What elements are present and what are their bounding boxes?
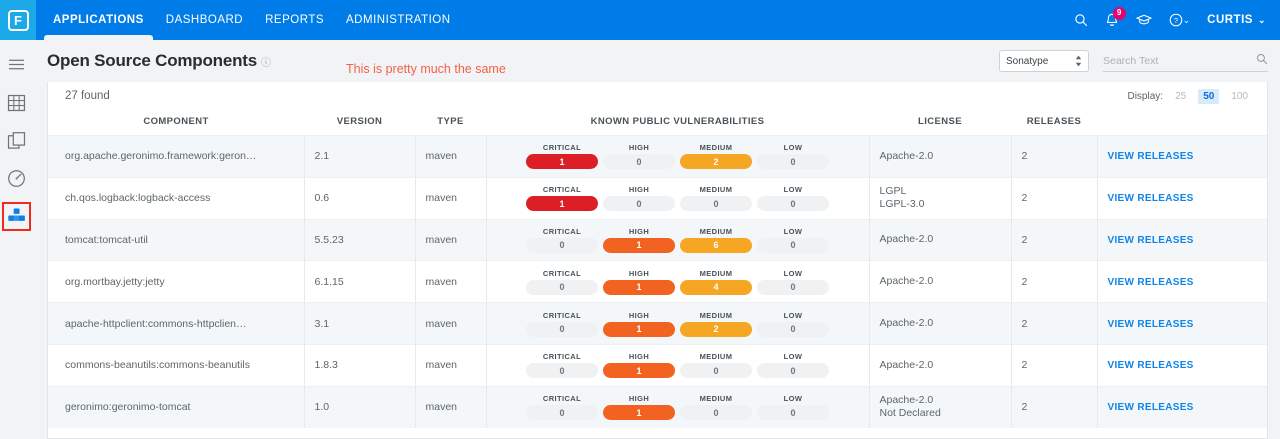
vuln-count-high: 1 bbox=[603, 363, 675, 378]
annotation-text: This is pretty much the same bbox=[346, 62, 506, 76]
cell-releases: 2 bbox=[1011, 136, 1097, 178]
cell-version: 1.0 bbox=[304, 386, 415, 428]
vulnerability-summary: CRITICAL0HIGH1MEDIUM4LOW0 bbox=[487, 269, 869, 295]
filter-select[interactable]: Sonatype bbox=[999, 50, 1089, 72]
vuln-count-medium: 4 bbox=[680, 280, 752, 295]
vuln-cell-low: LOW0 bbox=[757, 185, 829, 211]
top-bar-actions: 9 ? ⌄ CURTIS ⌄ bbox=[1074, 0, 1280, 40]
user-menu[interactable]: CURTIS ⌄ bbox=[1207, 14, 1266, 26]
vuln-cell-high: HIGH0 bbox=[603, 185, 675, 211]
cell-type: maven bbox=[415, 386, 486, 428]
header-controls: Sonatype bbox=[999, 50, 1268, 72]
vuln-cell-low: LOW0 bbox=[757, 269, 829, 295]
vuln-cell-high: HIGH1 bbox=[603, 311, 675, 337]
vuln-count-critical: 1 bbox=[526, 154, 598, 169]
vuln-cell-high: HIGH1 bbox=[603, 352, 675, 378]
vuln-cell-critical: CRITICAL1 bbox=[526, 185, 598, 211]
vuln-label-high: HIGH bbox=[629, 269, 649, 278]
cell-releases: 2 bbox=[1011, 386, 1097, 428]
cell-version: 2.1 bbox=[304, 136, 415, 178]
cell-version: 5.5.23 bbox=[304, 219, 415, 261]
vuln-count-high: 1 bbox=[603, 322, 675, 337]
vuln-label-critical: CRITICAL bbox=[543, 311, 581, 320]
cell-license: Apache-2.0 bbox=[869, 344, 1011, 386]
vuln-label-medium: MEDIUM bbox=[700, 143, 733, 152]
left-icon-rail bbox=[0, 40, 33, 439]
cell-license: LGPLLGPL-3.0 bbox=[869, 177, 1011, 219]
cell-type: maven bbox=[415, 261, 486, 303]
license-line: Apache-2.0 bbox=[880, 359, 1011, 372]
cell-component: apache-httpclient:commons-httpclien… bbox=[48, 303, 304, 345]
license-line: Not Declared bbox=[880, 407, 1011, 420]
cell-vulnerabilities: CRITICAL0HIGH1MEDIUM0LOW0 bbox=[486, 344, 869, 386]
vuln-cell-high: HIGH1 bbox=[603, 269, 675, 295]
vuln-label-medium: MEDIUM bbox=[700, 394, 733, 403]
col-type: TYPE bbox=[415, 112, 486, 136]
select-spinner-icon bbox=[1075, 55, 1082, 67]
vuln-count-critical: 0 bbox=[526, 363, 598, 378]
vuln-cell-critical: CRITICAL0 bbox=[526, 227, 598, 253]
vuln-cell-medium: MEDIUM2 bbox=[680, 311, 752, 337]
vuln-label-critical: CRITICAL bbox=[543, 227, 581, 236]
page-size-25[interactable]: 25 bbox=[1170, 89, 1191, 104]
vuln-cell-high: HIGH0 bbox=[603, 143, 675, 169]
cell-releases: 2 bbox=[1011, 303, 1097, 345]
vuln-label-low: LOW bbox=[784, 227, 803, 236]
cell-component: commons-beanutils:commons-beanutils bbox=[48, 344, 304, 386]
vuln-cell-low: LOW0 bbox=[757, 311, 829, 337]
table-row[interactable]: ch.qos.logback:logback-access0.6mavenCRI… bbox=[48, 177, 1268, 219]
vuln-count-critical: 0 bbox=[526, 238, 598, 253]
cell-license: Apache-2.0 bbox=[869, 136, 1011, 178]
vuln-count-high: 1 bbox=[603, 280, 675, 295]
vulnerability-summary: CRITICAL0HIGH1MEDIUM0LOW0 bbox=[487, 352, 869, 378]
vuln-count-high: 0 bbox=[603, 154, 675, 169]
gauge-icon[interactable] bbox=[4, 166, 29, 191]
filter-select-value: Sonatype bbox=[1006, 56, 1075, 67]
nav-item-administration[interactable]: ADMINISTRATION bbox=[346, 0, 451, 40]
cell-version: 6.1.15 bbox=[304, 261, 415, 303]
vuln-label-high: HIGH bbox=[629, 394, 649, 403]
vuln-cell-critical: CRITICAL0 bbox=[526, 269, 598, 295]
vuln-cell-medium: MEDIUM0 bbox=[680, 185, 752, 211]
vuln-cell-medium: MEDIUM2 bbox=[680, 143, 752, 169]
cell-vulnerabilities: CRITICAL1HIGH0MEDIUM0LOW0 bbox=[486, 177, 869, 219]
license-line: Apache-2.0 bbox=[880, 150, 1011, 163]
table-row[interactable]: org.apache.geronimo.framework:geron…2.1m… bbox=[48, 136, 1268, 178]
table-row[interactable]: apache-httpclient:commons-httpclien…3.1m… bbox=[48, 303, 1268, 345]
cell-license: Apache-2.0 bbox=[869, 303, 1011, 345]
components-card: 27 found Display: 25 50 100 COMPONENT VE… bbox=[47, 82, 1268, 439]
vuln-label-high: HIGH bbox=[629, 311, 649, 320]
vulnerability-summary: CRITICAL0HIGH1MEDIUM2LOW0 bbox=[487, 311, 869, 337]
cell-releases: 2 bbox=[1011, 344, 1097, 386]
nav-label-dashboard: DASHBOARD bbox=[166, 14, 243, 26]
main-content: Open Source Components ⓘ This is pretty … bbox=[33, 40, 1280, 439]
notification-count-badge: 9 bbox=[1113, 7, 1126, 20]
top-navigation-bar: F APPLICATIONS DASHBOARD REPORTS ADMINIS… bbox=[0, 0, 1280, 40]
vuln-label-low: LOW bbox=[784, 185, 803, 194]
vuln-count-critical: 0 bbox=[526, 280, 598, 295]
help-chevron-down-icon: ⌄ bbox=[1183, 15, 1191, 26]
vuln-cell-low: LOW0 bbox=[757, 227, 829, 253]
cell-license: Apache-2.0 bbox=[869, 219, 1011, 261]
view-releases-link[interactable]: VIEW RELEASES bbox=[1108, 235, 1194, 246]
cell-vulnerabilities: CRITICAL0HIGH1MEDIUM4LOW0 bbox=[486, 261, 869, 303]
cell-actions: VIEW RELEASES bbox=[1097, 303, 1268, 345]
page-size-100[interactable]: 100 bbox=[1226, 89, 1253, 104]
user-name-label: CURTIS bbox=[1207, 14, 1253, 26]
col-releases: RELEASES bbox=[1011, 112, 1097, 136]
cell-license: Apache-2.0Not Declared bbox=[869, 386, 1011, 428]
page-title: Open Source Components bbox=[47, 51, 257, 71]
license-line: Apache-2.0 bbox=[880, 233, 1011, 246]
cell-license: Apache-2.0 bbox=[869, 261, 1011, 303]
vuln-count-medium: 0 bbox=[680, 363, 752, 378]
vuln-count-medium: 6 bbox=[680, 238, 752, 253]
help-menu[interactable]: ? ⌄ bbox=[1169, 13, 1191, 27]
cell-component: org.apache.geronimo.framework:geron… bbox=[48, 136, 304, 178]
cell-actions: VIEW RELEASES bbox=[1097, 386, 1268, 428]
graduation-cap-icon[interactable] bbox=[1136, 14, 1152, 26]
vuln-label-critical: CRITICAL bbox=[543, 269, 581, 278]
vuln-cell-high: HIGH1 bbox=[603, 227, 675, 253]
vuln-label-medium: MEDIUM bbox=[700, 311, 733, 320]
vuln-cell-low: LOW0 bbox=[757, 352, 829, 378]
view-releases-link[interactable]: VIEW RELEASES bbox=[1108, 151, 1194, 162]
table-header: COMPONENT VERSION TYPE KNOWN PUBLIC VULN… bbox=[48, 112, 1268, 136]
cell-actions: VIEW RELEASES bbox=[1097, 219, 1268, 261]
vuln-count-high: 1 bbox=[603, 405, 675, 420]
col-actions bbox=[1097, 112, 1268, 136]
app-root: F APPLICATIONS DASHBOARD REPORTS ADMINIS… bbox=[0, 0, 1280, 439]
search-icon[interactable] bbox=[1074, 13, 1088, 27]
page-header: Open Source Components ⓘ This is pretty … bbox=[33, 40, 1280, 82]
nav-label-applications: APPLICATIONS bbox=[53, 14, 144, 26]
table-body: org.apache.geronimo.framework:geron…2.1m… bbox=[48, 136, 1268, 429]
nav-item-dashboard[interactable]: DASHBOARD bbox=[166, 0, 243, 40]
vuln-label-critical: CRITICAL bbox=[543, 185, 581, 194]
cell-component: org.mortbay.jetty:jetty bbox=[48, 261, 304, 303]
vuln-label-low: LOW bbox=[784, 311, 803, 320]
vulnerability-summary: CRITICAL1HIGH0MEDIUM2LOW0 bbox=[487, 143, 869, 169]
page-size-50[interactable]: 50 bbox=[1198, 89, 1219, 104]
vuln-count-high: 1 bbox=[603, 238, 675, 253]
vuln-count-low: 0 bbox=[757, 280, 829, 295]
license-line: LGPL-3.0 bbox=[880, 198, 1011, 211]
vuln-cell-medium: MEDIUM0 bbox=[680, 394, 752, 420]
result-count-label: 27 found bbox=[65, 90, 110, 102]
vuln-cell-medium: MEDIUM4 bbox=[680, 269, 752, 295]
search-input[interactable] bbox=[1103, 55, 1256, 67]
vuln-label-high: HIGH bbox=[629, 227, 649, 236]
vuln-label-medium: MEDIUM bbox=[700, 269, 733, 278]
vuln-cell-low: LOW0 bbox=[757, 143, 829, 169]
vuln-label-low: LOW bbox=[784, 269, 803, 278]
cell-actions: VIEW RELEASES bbox=[1097, 344, 1268, 386]
vuln-count-critical: 0 bbox=[526, 322, 598, 337]
cell-version: 1.8.3 bbox=[304, 344, 415, 386]
cell-type: maven bbox=[415, 303, 486, 345]
vuln-count-high: 0 bbox=[603, 196, 675, 211]
license-line: Apache-2.0 bbox=[880, 317, 1011, 330]
vuln-count-low: 0 bbox=[757, 196, 829, 211]
vuln-cell-critical: CRITICAL0 bbox=[526, 311, 598, 337]
col-license: LICENSE bbox=[869, 112, 1011, 136]
cell-component: geronimo:geronimo-tomcat bbox=[48, 386, 304, 428]
vuln-cell-medium: MEDIUM0 bbox=[680, 352, 752, 378]
nav-item-reports[interactable]: REPORTS bbox=[265, 0, 324, 40]
display-size-control: Display: 25 50 100 bbox=[1127, 89, 1253, 104]
layers-icon[interactable] bbox=[4, 128, 29, 153]
vuln-count-low: 0 bbox=[757, 238, 829, 253]
license-line: LGPL bbox=[880, 185, 1011, 198]
app-logo[interactable]: F bbox=[0, 0, 36, 40]
vuln-count-medium: 2 bbox=[680, 322, 752, 337]
vuln-cell-critical: CRITICAL0 bbox=[526, 352, 598, 378]
cell-type: maven bbox=[415, 219, 486, 261]
cell-component: ch.qos.logback:logback-access bbox=[48, 177, 304, 219]
vuln-label-medium: MEDIUM bbox=[700, 185, 733, 194]
table-row[interactable]: geronimo:geronimo-tomcat1.0mavenCRITICAL… bbox=[48, 386, 1268, 428]
nav-label-reports: REPORTS bbox=[265, 14, 324, 26]
view-releases-link[interactable]: VIEW RELEASES bbox=[1108, 402, 1194, 413]
cell-vulnerabilities: CRITICAL0HIGH1MEDIUM2LOW0 bbox=[486, 303, 869, 345]
vuln-count-critical: 0 bbox=[526, 405, 598, 420]
vuln-label-low: LOW bbox=[784, 352, 803, 361]
vuln-label-medium: MEDIUM bbox=[700, 352, 733, 361]
cell-type: maven bbox=[415, 177, 486, 219]
nav-label-administration: ADMINISTRATION bbox=[346, 14, 451, 26]
vuln-cell-critical: CRITICAL0 bbox=[526, 394, 598, 420]
vuln-count-medium: 2 bbox=[680, 154, 752, 169]
col-vulnerabilities: KNOWN PUBLIC VULNERABILITIES bbox=[486, 112, 869, 136]
cell-vulnerabilities: CRITICAL0HIGH1MEDIUM0LOW0 bbox=[486, 386, 869, 428]
vuln-count-medium: 0 bbox=[680, 405, 752, 420]
license-line: Apache-2.0 bbox=[880, 275, 1011, 288]
card-toolbar: 27 found Display: 25 50 100 bbox=[48, 82, 1267, 112]
vuln-label-high: HIGH bbox=[629, 352, 649, 361]
view-releases-link[interactable]: VIEW RELEASES bbox=[1108, 319, 1194, 330]
logo-letter-icon: F bbox=[8, 10, 29, 31]
cell-type: maven bbox=[415, 136, 486, 178]
table-row[interactable]: commons-beanutils:commons-beanutils1.8.3… bbox=[48, 344, 1268, 386]
svg-text:?: ? bbox=[1174, 16, 1178, 25]
vuln-label-critical: CRITICAL bbox=[543, 352, 581, 361]
vuln-label-low: LOW bbox=[784, 394, 803, 403]
vuln-cell-critical: CRITICAL1 bbox=[526, 143, 598, 169]
vulnerability-summary: CRITICAL0HIGH1MEDIUM0LOW0 bbox=[487, 394, 869, 420]
cell-releases: 2 bbox=[1011, 177, 1097, 219]
search-box[interactable] bbox=[1103, 50, 1268, 72]
vuln-cell-low: LOW0 bbox=[757, 394, 829, 420]
cell-actions: VIEW RELEASES bbox=[1097, 136, 1268, 178]
table-row[interactable]: org.mortbay.jetty:jetty6.1.15mavenCRITIC… bbox=[48, 261, 1268, 303]
vuln-label-critical: CRITICAL bbox=[543, 143, 581, 152]
cell-vulnerabilities: CRITICAL0HIGH1MEDIUM6LOW0 bbox=[486, 219, 869, 261]
license-line: Apache-2.0 bbox=[880, 394, 1011, 407]
cell-actions: VIEW RELEASES bbox=[1097, 261, 1268, 303]
vulnerability-summary: CRITICAL0HIGH1MEDIUM6LOW0 bbox=[487, 227, 869, 253]
col-component: COMPONENT bbox=[48, 112, 304, 136]
display-label: Display: bbox=[1127, 91, 1163, 102]
view-releases-link[interactable]: VIEW RELEASES bbox=[1108, 277, 1194, 288]
vuln-label-high: HIGH bbox=[629, 185, 649, 194]
vuln-count-critical: 1 bbox=[526, 196, 598, 211]
cell-component: tomcat:tomcat-util bbox=[48, 219, 304, 261]
menu-icon[interactable] bbox=[4, 52, 29, 77]
vuln-label-medium: MEDIUM bbox=[700, 227, 733, 236]
nav-item-applications[interactable]: APPLICATIONS bbox=[53, 0, 144, 40]
vuln-count-low: 0 bbox=[757, 322, 829, 337]
user-chevron-down-icon: ⌄ bbox=[1258, 15, 1266, 26]
vuln-count-low: 0 bbox=[757, 405, 829, 420]
vuln-cell-medium: MEDIUM6 bbox=[680, 227, 752, 253]
page-help-icon[interactable]: ⓘ bbox=[261, 54, 271, 69]
view-releases-link[interactable]: VIEW RELEASES bbox=[1108, 193, 1194, 204]
vuln-count-medium: 0 bbox=[680, 196, 752, 211]
vuln-label-critical: CRITICAL bbox=[543, 394, 581, 403]
vuln-label-low: LOW bbox=[784, 143, 803, 152]
components-icon[interactable] bbox=[4, 204, 29, 229]
view-releases-link[interactable]: VIEW RELEASES bbox=[1108, 360, 1194, 371]
vuln-label-high: HIGH bbox=[629, 143, 649, 152]
table-row[interactable]: tomcat:tomcat-util5.5.23mavenCRITICAL0HI… bbox=[48, 219, 1268, 261]
vuln-count-low: 0 bbox=[757, 363, 829, 378]
cell-version: 0.6 bbox=[304, 177, 415, 219]
grid-icon[interactable] bbox=[4, 90, 29, 115]
vuln-cell-high: HIGH1 bbox=[603, 394, 675, 420]
cell-type: maven bbox=[415, 344, 486, 386]
search-submit-icon[interactable] bbox=[1256, 52, 1268, 70]
cell-releases: 2 bbox=[1011, 261, 1097, 303]
notifications-bell-icon[interactable]: 9 bbox=[1105, 13, 1119, 28]
cell-actions: VIEW RELEASES bbox=[1097, 177, 1268, 219]
main-nav: APPLICATIONS DASHBOARD REPORTS ADMINISTR… bbox=[36, 0, 451, 40]
cell-version: 3.1 bbox=[304, 303, 415, 345]
col-version: VERSION bbox=[304, 112, 415, 136]
cell-releases: 2 bbox=[1011, 219, 1097, 261]
vulnerability-summary: CRITICAL1HIGH0MEDIUM0LOW0 bbox=[487, 185, 869, 211]
cell-vulnerabilities: CRITICAL1HIGH0MEDIUM2LOW0 bbox=[486, 136, 869, 178]
vuln-count-low: 0 bbox=[757, 154, 829, 169]
components-table: COMPONENT VERSION TYPE KNOWN PUBLIC VULN… bbox=[48, 112, 1268, 428]
